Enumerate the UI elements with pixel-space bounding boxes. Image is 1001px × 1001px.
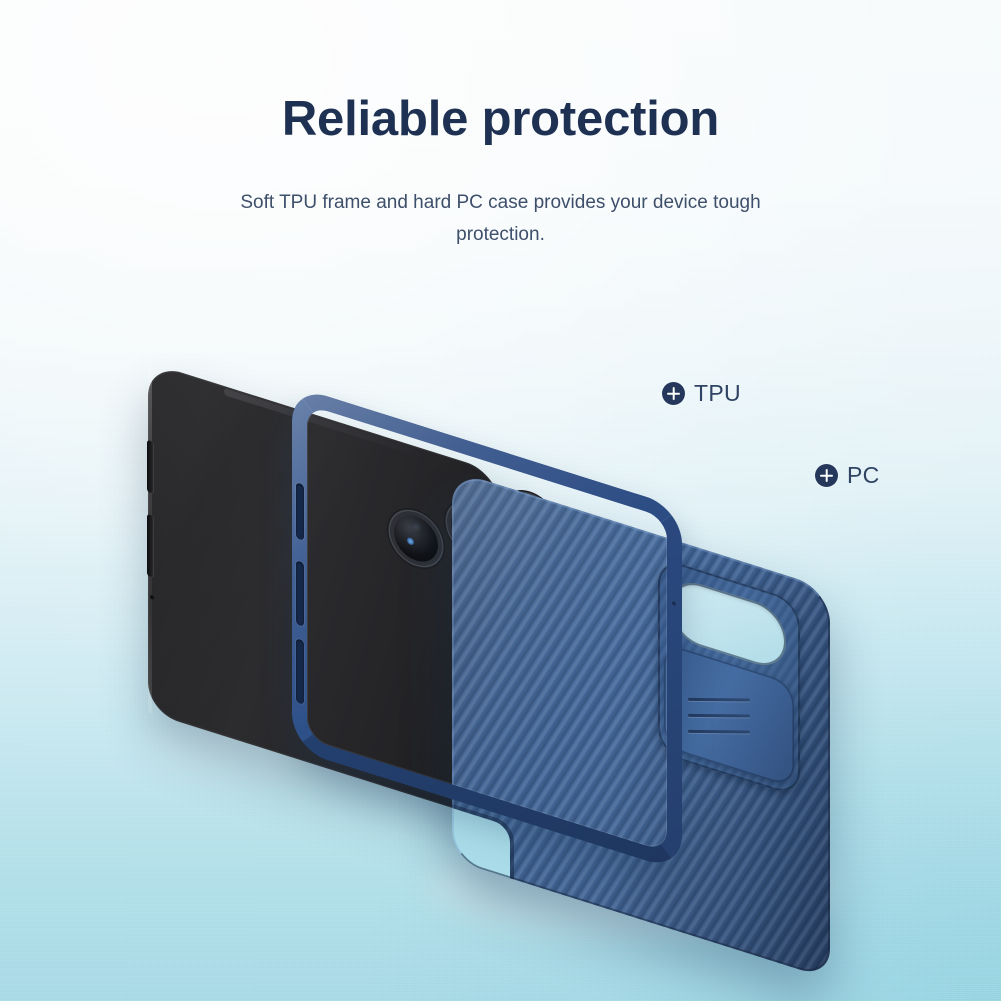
plus-circle-icon xyxy=(815,464,838,487)
phone-microphone-hole xyxy=(150,595,154,600)
product-feature-banner: Reliable protection Soft TPU frame and h… xyxy=(0,0,1001,1001)
callout-tpu-label: TPU xyxy=(694,380,741,407)
callout-tpu: TPU xyxy=(662,380,741,407)
page-title: Reliable protection xyxy=(0,92,1001,147)
phone-volume-button xyxy=(147,440,154,494)
callout-pc: PC xyxy=(815,462,880,489)
callout-pc-label: PC xyxy=(847,462,880,489)
tpu-detail-dot xyxy=(672,601,676,606)
plus-circle-icon xyxy=(662,382,685,405)
tpu-button-cutout-2 xyxy=(296,560,305,627)
page-subtitle: Soft TPU frame and hard PC case provides… xyxy=(221,187,781,251)
tpu-button-cutout-1 xyxy=(296,482,305,541)
phone-power-button xyxy=(147,514,154,578)
tpu-button-cutout-3 xyxy=(296,638,305,705)
